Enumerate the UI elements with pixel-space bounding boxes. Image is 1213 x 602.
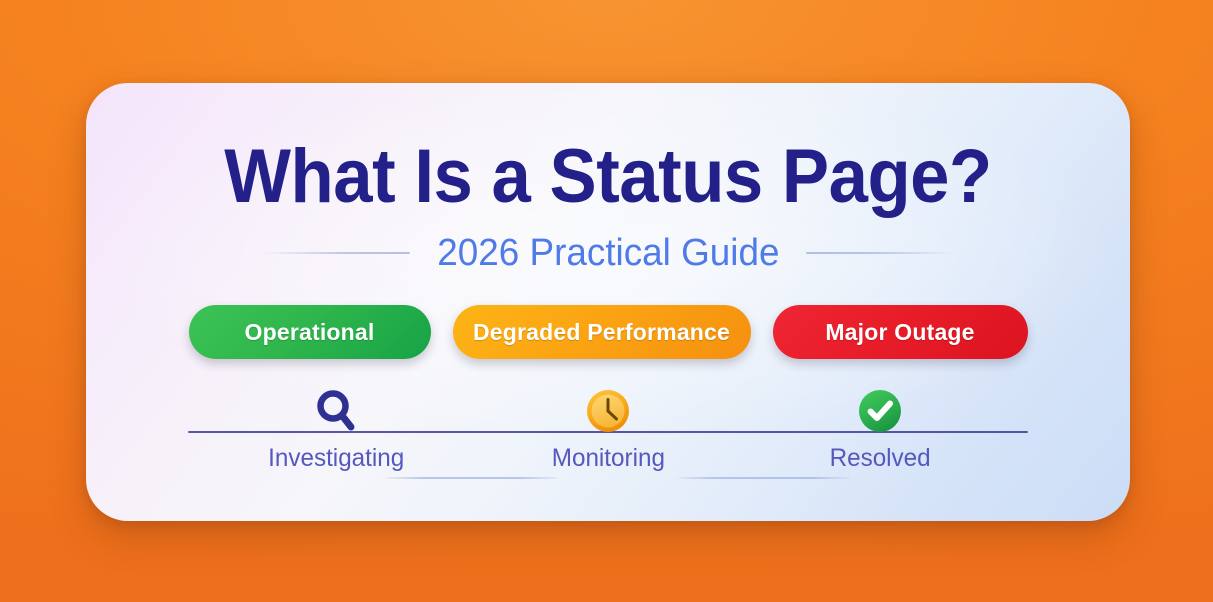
timeline-label-rule-1	[386, 477, 558, 479]
timeline-stage-label-resolved: Resolved	[820, 443, 941, 473]
poster-stage: What Is a Status Page? 2026 Practical Gu…	[0, 0, 1213, 602]
timeline-stage-resolved[interactable]: Resolved	[780, 383, 980, 473]
subtitle-rule-right	[806, 252, 954, 254]
status-badge-degraded-performance[interactable]: Degraded Performance	[453, 305, 751, 359]
timeline-label-rule-2	[678, 477, 850, 479]
incident-timeline: Investigating	[188, 383, 1028, 493]
clock-icon	[580, 383, 636, 439]
page-title: What Is a Status Page?	[123, 135, 1094, 219]
subtitle-rule-left	[262, 252, 410, 254]
subtitle-row: 2026 Practical Guide	[86, 231, 1130, 275]
card-content: What Is a Status Page? 2026 Practical Gu…	[86, 83, 1130, 521]
status-page-card: What Is a Status Page? 2026 Practical Gu…	[86, 83, 1130, 521]
timeline-stage-monitoring[interactable]: Monitoring	[508, 383, 708, 473]
status-pill-row: Operational Degraded Performance Major O…	[86, 305, 1130, 359]
timeline-stage-label-monitoring: Monitoring	[542, 443, 675, 473]
timeline-stage-list: Investigating	[188, 383, 1028, 473]
page-subtitle: 2026 Practical Guide	[437, 231, 779, 275]
magnifier-icon	[308, 383, 364, 439]
status-badge-major-outage[interactable]: Major Outage	[773, 305, 1028, 359]
timeline-stage-investigating[interactable]: Investigating	[236, 383, 436, 473]
status-badge-operational[interactable]: Operational	[189, 305, 431, 359]
check-circle-icon	[852, 383, 908, 439]
timeline-stage-label-investigating: Investigating	[258, 443, 414, 473]
